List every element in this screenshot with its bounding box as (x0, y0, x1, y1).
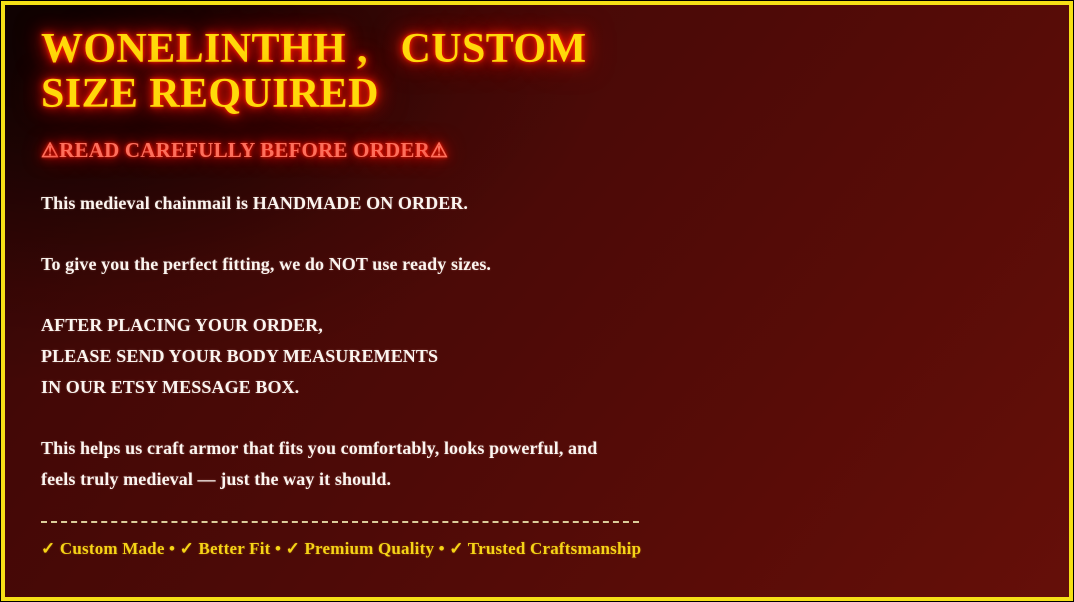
warning-triangle-icon-left: ⚠ (41, 140, 59, 162)
body-text-block: This medieval chainmail is HANDMADE ON O… (41, 188, 1069, 495)
body-line-etsy-message-box: IN OUR ETSY MESSAGE BOX. (41, 372, 1069, 403)
spacer (41, 280, 1069, 310)
title-line-1: WONELINTHH , CUSTOM (41, 26, 587, 72)
features-list: ✓ Custom Made • ✓ Better Fit • ✓ Premium… (41, 538, 1069, 560)
warning-text: READ CAREFULLY BEFORE ORDER (59, 138, 430, 162)
body-line-handmade: This medieval chainmail is HANDMADE ON O… (41, 188, 1069, 219)
warning-triangle-icon-right: ⚠ (430, 140, 448, 162)
title-line-2: SIZE REQUIRED (41, 71, 379, 117)
notice-content: WONELINTHH , CUSTOMSIZE REQUIRED ⚠READ C… (5, 5, 1069, 597)
spacer (41, 403, 1069, 433)
notice-border: WONELINTHH , CUSTOMSIZE REQUIRED ⚠READ C… (1, 1, 1073, 601)
warning-banner: ⚠READ CAREFULLY BEFORE ORDER⚠ (41, 137, 1069, 164)
body-line-send-measurements: PLEASE SEND YOUR BODY MEASUREMENTS (41, 341, 1069, 372)
notice-frame: WONELINTHH , CUSTOMSIZE REQUIRED ⚠READ C… (0, 0, 1074, 602)
dashed-divider (41, 521, 639, 523)
page-title: WONELINTHH , CUSTOMSIZE REQUIRED (41, 27, 1069, 117)
body-line-after-order: AFTER PLACING YOUR ORDER, (41, 310, 1069, 341)
body-line-craft-armor-1: This helps us craft armor that fits you … (41, 433, 1069, 464)
body-line-craft-armor-2: feels truly medieval — just the way it s… (41, 464, 1069, 495)
spacer (41, 219, 1069, 249)
body-line-fitting: To give you the perfect fitting, we do N… (41, 249, 1069, 280)
